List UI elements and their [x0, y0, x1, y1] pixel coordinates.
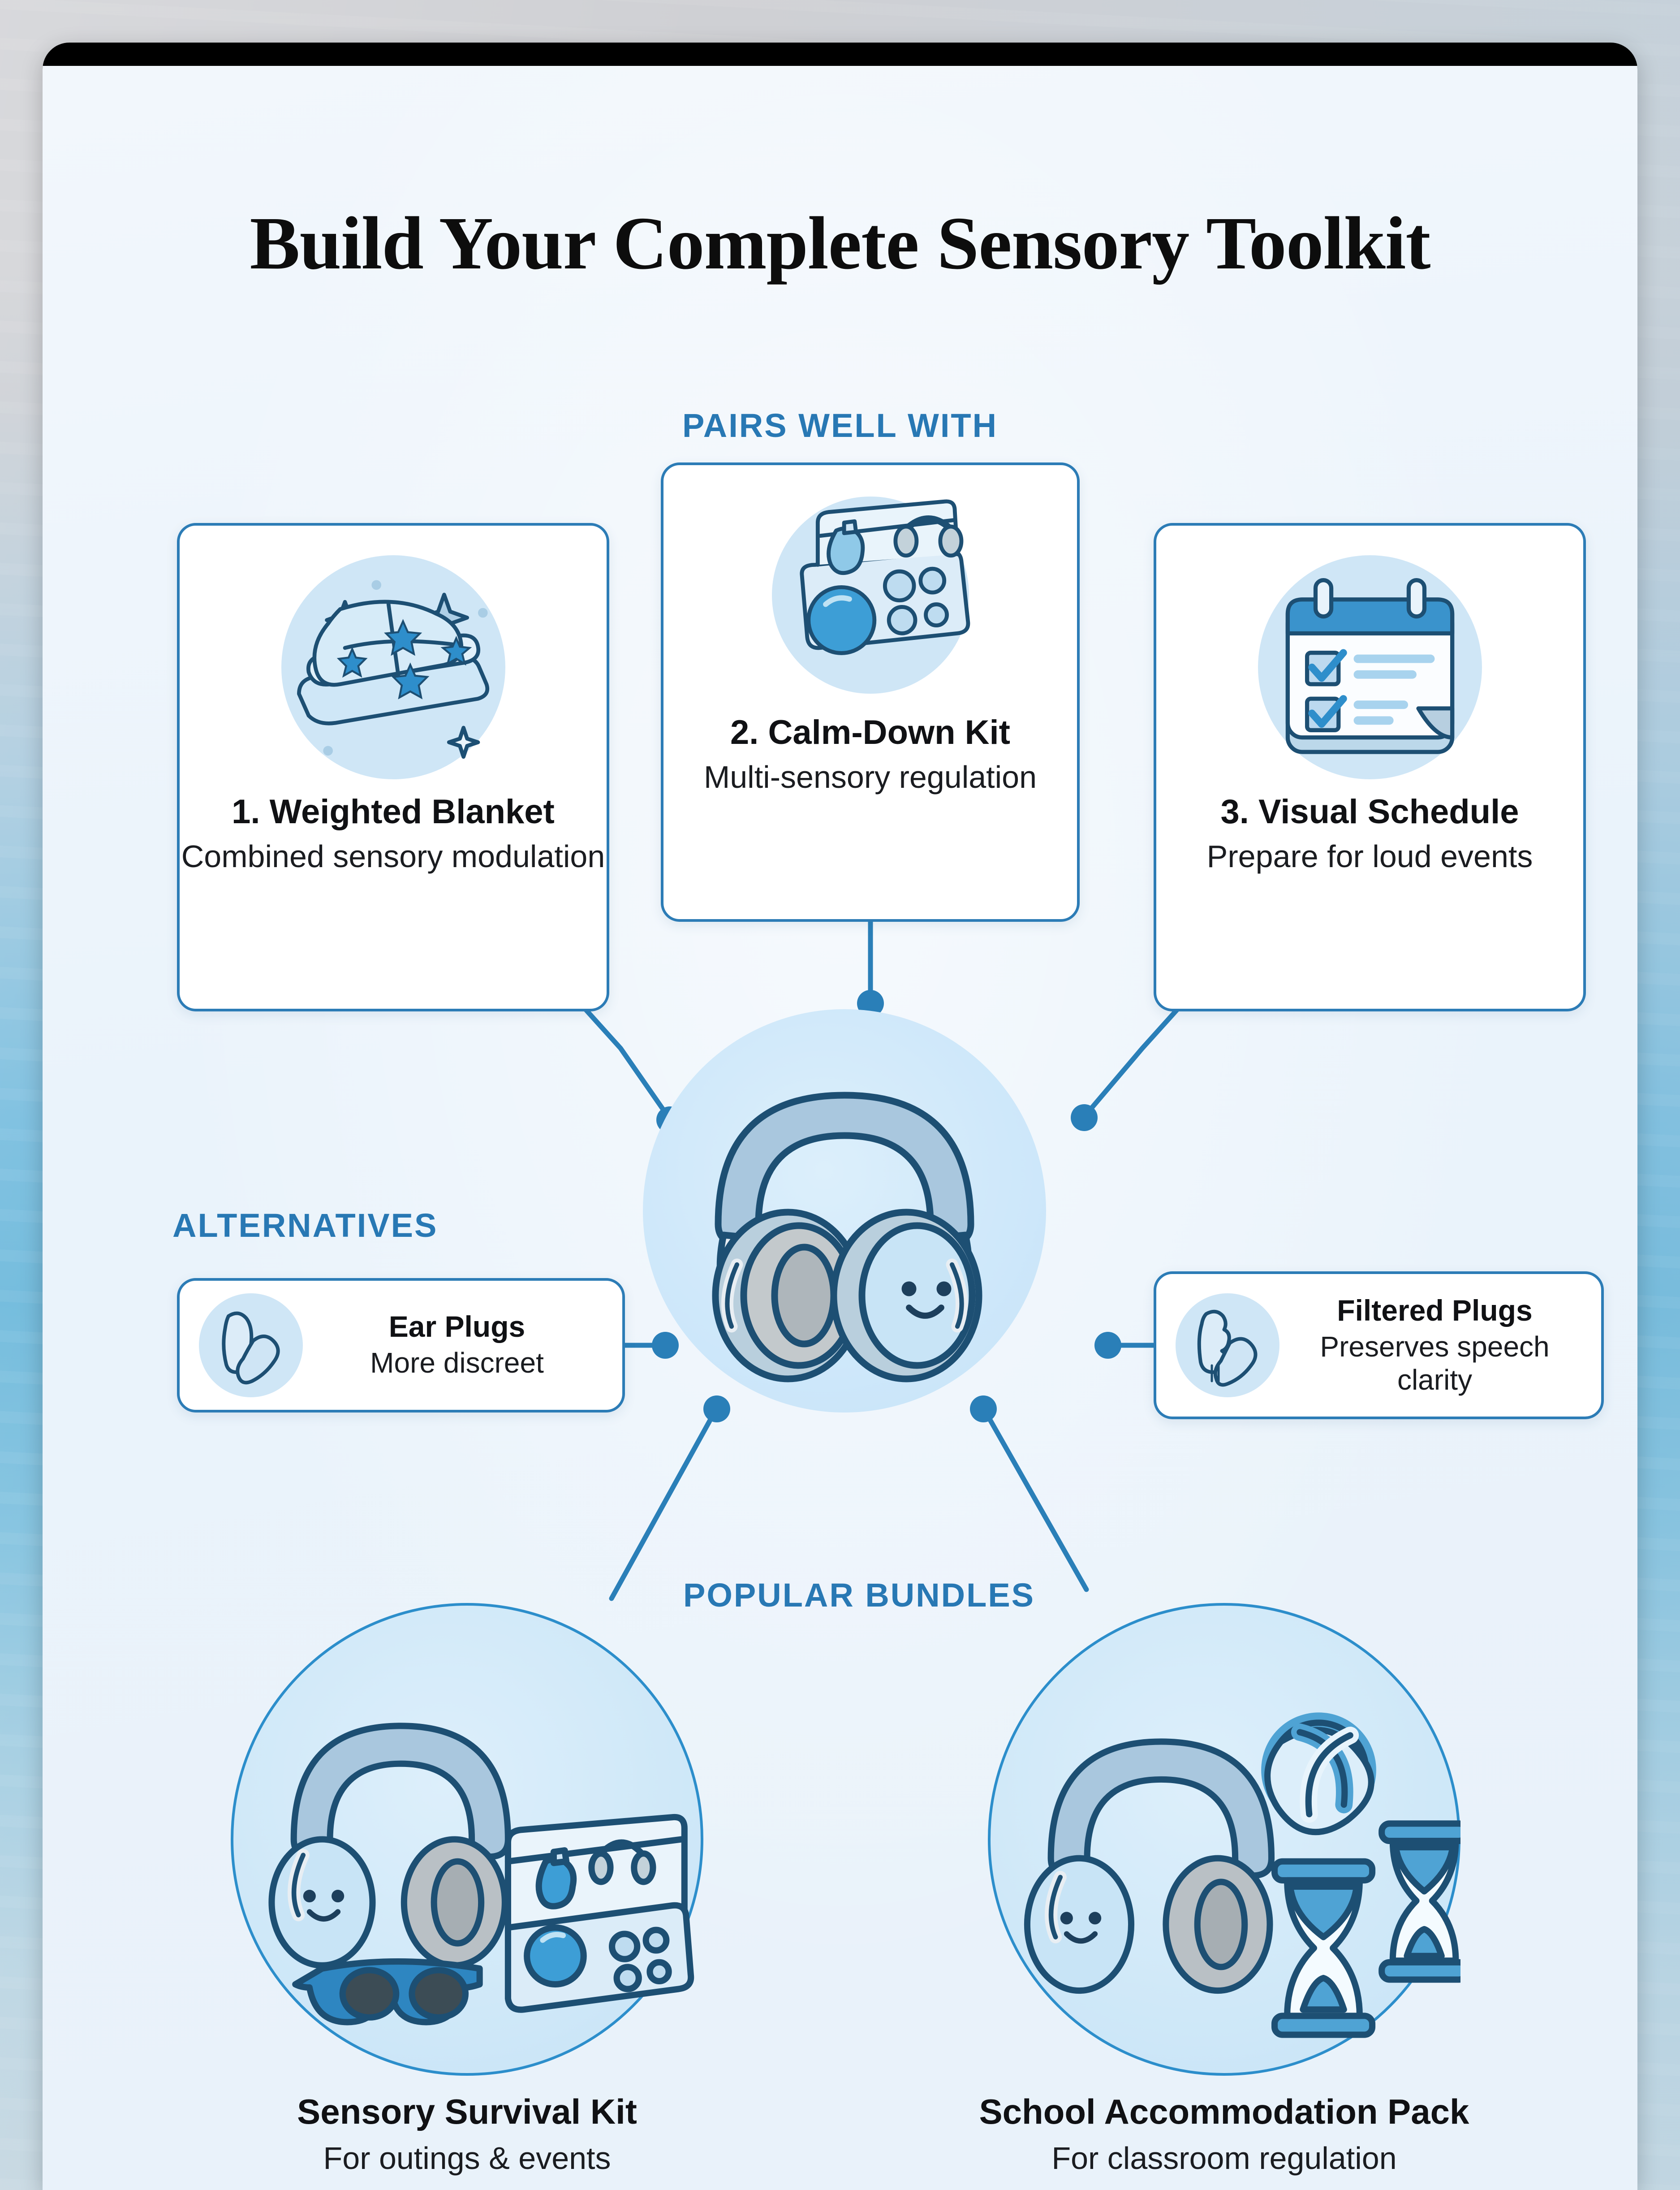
- school-pack-bundle-icon: [988, 1603, 1460, 2076]
- filtered-plugs-icon: [1172, 1289, 1284, 1401]
- bundle-school-accommodation-pack[interactable]: School Accommodation Pack For classroom …: [988, 1603, 1460, 2076]
- bundle-sensory-survival-kit[interactable]: Sensory Survival Kit For outings & event…: [231, 1603, 703, 2076]
- survival-kit-bundle-icon: [231, 1603, 703, 2076]
- card-ear-plugs[interactable]: Ear Plugs More discreet: [177, 1278, 625, 1412]
- bundle-title: School Accommodation Pack: [898, 2091, 1550, 2132]
- bundle-description: For outings & events: [141, 2140, 793, 2176]
- card-title: 3. Visual Schedule: [1220, 793, 1519, 831]
- card-calm-down-kit[interactable]: 2. Calm-Down Kit Multi-sensory regulatio…: [661, 462, 1080, 922]
- card-title: Ear Plugs: [389, 1310, 525, 1343]
- weighted-blanket-icon: [272, 546, 514, 788]
- card-visual-schedule[interactable]: 3. Visual Schedule Prepare for loud even…: [1154, 523, 1586, 1011]
- headphones-smiley-icon[interactable]: [643, 1009, 1046, 1412]
- card-filtered-plugs[interactable]: Filtered Plugs Preserves speech clarity: [1154, 1271, 1604, 1419]
- card-description: Multi-sensory regulation: [704, 759, 1037, 796]
- card-description: Combined sensory modulation: [181, 838, 605, 875]
- visual-schedule-calendar-icon: [1249, 546, 1491, 788]
- card-title: 2. Calm-Down Kit: [730, 713, 1010, 752]
- card-description: Prepare for loud events: [1207, 838, 1533, 875]
- card-weighted-blanket[interactable]: 1. Weighted Blanket Combined sensory mod…: [177, 523, 609, 1011]
- bundle-caption: School Accommodation Pack For classroom …: [898, 2091, 1550, 2176]
- infographic-page: Build Your Complete Sensory Toolkit PAIR…: [43, 66, 1637, 2190]
- card-description: More discreet: [370, 1346, 544, 1380]
- bundle-title: Sensory Survival Kit: [141, 2091, 793, 2132]
- card-title: 1. Weighted Blanket: [232, 793, 555, 831]
- card-description: Preserves speech clarity: [1284, 1330, 1586, 1396]
- bundle-description: For classroom regulation: [898, 2140, 1550, 2176]
- bundle-caption: Sensory Survival Kit For outings & event…: [141, 2091, 793, 2176]
- device-frame: Build Your Complete Sensory Toolkit PAIR…: [43, 43, 1637, 2190]
- calm-down-kit-icon: [736, 483, 1005, 707]
- card-title: Filtered Plugs: [1337, 1294, 1532, 1327]
- ear-plugs-icon: [195, 1289, 307, 1401]
